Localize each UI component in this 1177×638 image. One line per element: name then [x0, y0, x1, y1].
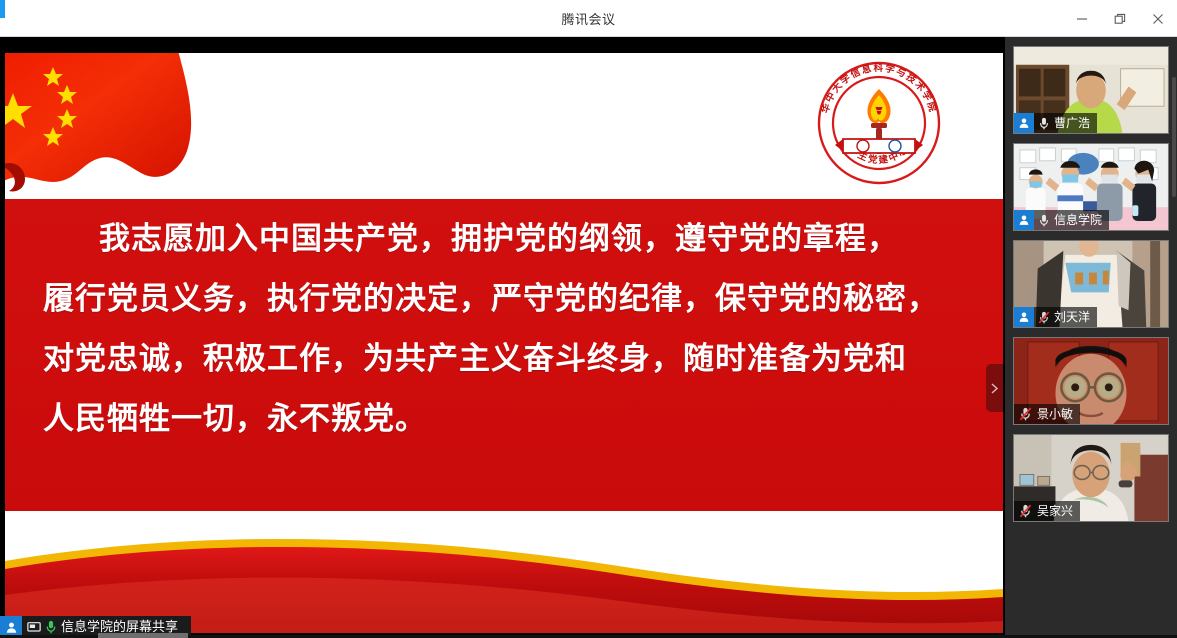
taskbar-chip	[98, 633, 188, 638]
participant-name: 曹广浩	[1053, 113, 1097, 133]
participant-rail[interactable]: 曹广浩	[1005, 37, 1177, 638]
window-accent-stripe	[0, 0, 5, 18]
person-icon	[1014, 113, 1034, 133]
microphone-muted-glyph	[1019, 407, 1032, 421]
microphone-muted-glyph	[1038, 311, 1050, 324]
close-icon	[1152, 13, 1164, 25]
participant-tile[interactable]: 曹广浩	[1013, 46, 1169, 134]
minimize-icon	[1076, 13, 1088, 25]
participant-name: 刘天洋	[1053, 307, 1097, 327]
person-glyph	[1018, 117, 1030, 129]
oath-line-4: 人民牺牲一切，永不叛党。	[43, 389, 965, 449]
microphone-muted-glyph	[1019, 504, 1032, 518]
monitor-icon	[27, 621, 41, 634]
slide-footer-decoration	[5, 511, 1003, 633]
red-wave-graphic	[5, 511, 1003, 633]
chinese-flag-graphic	[5, 53, 261, 197]
tencent-meeting-window: 腾讯会议	[0, 0, 1177, 638]
restore-button[interactable]	[1101, 0, 1139, 37]
restore-icon	[1114, 13, 1126, 25]
monitor-glyph	[27, 621, 41, 634]
party-center-emblem-logo: 华中大学信息科学与技术学院 学生党建中心	[817, 61, 941, 185]
oath-line-1: 我志愿加入中国共产党，拥护党的纲领，遵守党的章程，	[43, 209, 965, 269]
minimize-button[interactable]	[1063, 0, 1101, 37]
participant-name: 吴家兴	[1036, 501, 1080, 521]
participant-tile[interactable]: 景小敏	[1013, 337, 1169, 425]
rail-scrollbar[interactable]	[1172, 77, 1176, 197]
collapse-panel-handle[interactable]	[986, 364, 1003, 412]
microphone-glyph	[1039, 117, 1049, 130]
person-icon	[1014, 307, 1034, 327]
microphone-icon	[1034, 210, 1053, 230]
person-glyph	[5, 621, 18, 634]
microphone-glyph	[45, 620, 57, 634]
participant-tile[interactable]: 吴家兴	[1013, 434, 1169, 522]
slide-header: 华中大学信息科学与技术学院 学生党建中心	[5, 53, 1003, 199]
participant-tile[interactable]: 刘天洋	[1013, 240, 1169, 328]
window-controls	[1063, 0, 1177, 37]
participant-badge: 刘天洋	[1014, 307, 1097, 327]
microphone-icon	[45, 620, 57, 634]
participant-tile[interactable]: 信息学院	[1013, 143, 1169, 231]
title-bar: 腾讯会议	[0, 0, 1177, 37]
participant-badge: 吴家兴	[1014, 501, 1080, 521]
chevron-right-icon	[990, 382, 999, 395]
oath-line-3: 对党忠诚，积极工作，为共产主义奋斗终身，随时准备为党和	[43, 329, 965, 389]
participant-name: 景小敏	[1036, 404, 1080, 424]
close-button[interactable]	[1139, 0, 1177, 37]
oath-text-panel: 我志愿加入中国共产党，拥护党的纲领，遵守党的章程， 履行党员义务，执行党的决定，…	[5, 199, 1003, 511]
participant-name: 信息学院	[1053, 210, 1109, 230]
microphone-muted-icon	[1014, 404, 1036, 424]
person-glyph	[1018, 214, 1030, 226]
shared-screen-stage[interactable]: 华中大学信息科学与技术学院 学生党建中心	[0, 37, 1005, 638]
microphone-muted-icon	[1014, 501, 1036, 521]
person-icon	[1014, 210, 1034, 230]
microphone-glyph	[1039, 214, 1049, 227]
window-title: 腾讯会议	[561, 9, 615, 28]
oath-line-2: 履行党员义务，执行党的决定，严守党的纪律，保守党的秘密，	[43, 269, 965, 329]
microphone-icon	[1034, 113, 1053, 133]
participant-badge: 曹广浩	[1014, 113, 1097, 133]
participant-badge: 信息学院	[1014, 210, 1109, 230]
microphone-muted-icon	[1034, 307, 1053, 327]
participant-badge: 景小敏	[1014, 404, 1080, 424]
person-glyph	[1018, 311, 1030, 323]
presentation-slide: 华中大学信息科学与技术学院 学生党建中心	[5, 53, 1003, 633]
